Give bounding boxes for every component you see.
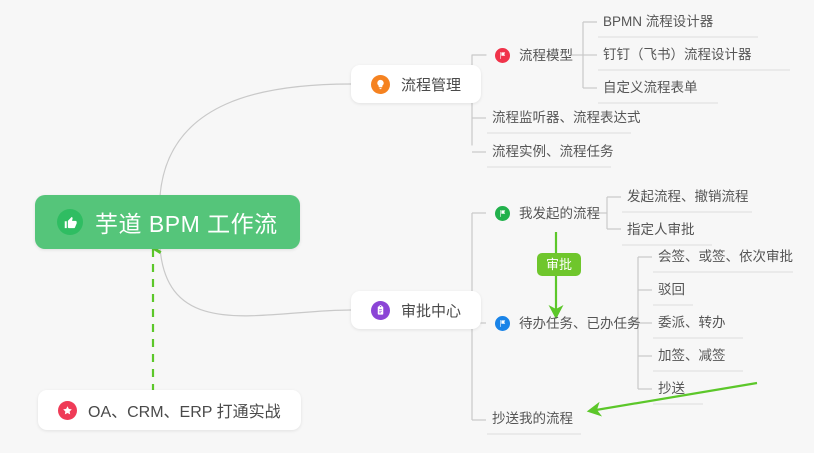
node-label-dingtalk-feishu-designer: 钉钉（飞书）流程设计器 xyxy=(603,46,752,63)
node-label-reject: 驳回 xyxy=(658,281,685,298)
branch-node-approval-center[interactable]: 审批中心 xyxy=(351,291,481,329)
node-delegate-transfer[interactable]: 委派、转办 xyxy=(652,310,732,334)
node-todo-done-tasks[interactable]: 待办任务、已办任务 xyxy=(489,310,647,336)
node-bpmn-designer[interactable]: BPMN 流程设计器 xyxy=(597,9,719,33)
node-label-add-remove-sign: 加签、减签 xyxy=(658,347,726,364)
node-instance-task[interactable]: 流程实例、流程任务 xyxy=(486,139,620,163)
flag-icon-blue xyxy=(495,316,510,331)
node-dingtalk-feishu-designer[interactable]: 钉钉（飞书）流程设计器 xyxy=(597,42,758,66)
node-label-process-model: 流程模型 xyxy=(519,47,573,64)
node-label-custom-process-form: 自定义流程表单 xyxy=(603,79,698,96)
node-add-remove-sign[interactable]: 加签、减签 xyxy=(652,343,732,367)
node-label-assignee-approval: 指定人审批 xyxy=(627,221,695,238)
node-assignee-approval[interactable]: 指定人审批 xyxy=(621,217,701,241)
flag-icon-green xyxy=(495,206,510,221)
node-cc[interactable]: 抄送 xyxy=(652,376,691,400)
node-label-instance-task: 流程实例、流程任务 xyxy=(492,143,614,160)
relation-label-approval[interactable]: 审批 xyxy=(537,253,581,276)
node-listener-expression[interactable]: 流程监听器、流程表达式 xyxy=(486,105,647,129)
node-label-listener-expression: 流程监听器、流程表达式 xyxy=(492,109,641,126)
node-label-cc: 抄送 xyxy=(658,380,685,397)
node-countersign[interactable]: 会签、或签、依次审批 xyxy=(652,244,799,268)
branch-label-process-management: 流程管理 xyxy=(401,74,461,95)
bottom-card-integration-practice[interactable]: OA、CRM、ERP 打通实战 xyxy=(38,390,301,430)
branch-node-process-management[interactable]: 流程管理 xyxy=(351,65,481,103)
node-label-cc-to-me: 抄送我的流程 xyxy=(492,410,573,427)
relation-label-text: 审批 xyxy=(546,257,572,272)
flag-icon-red xyxy=(495,48,510,63)
root-node[interactable]: 芋道 BPM 工作流 xyxy=(35,195,300,249)
node-label-bpmn-designer: BPMN 流程设计器 xyxy=(603,13,713,30)
wire-pmodel-to-bpmn xyxy=(583,22,597,88)
bottom-card-label: OA、CRM、ERP 打通实战 xyxy=(88,398,281,422)
node-start-cancel[interactable]: 发起流程、撤销流程 xyxy=(621,184,755,208)
node-my-initiated[interactable]: 我发起的流程 xyxy=(489,200,606,226)
star-icon xyxy=(58,401,77,420)
wire-root-to-process-management xyxy=(160,84,351,196)
mindmap-canvas: 芋道 BPM 工作流 流程管理 流程模型 BPMN 流程设计器 钉钉（飞书）流程… xyxy=(0,0,814,453)
node-label-my-initiated: 我发起的流程 xyxy=(519,205,600,222)
node-custom-process-form[interactable]: 自定义流程表单 xyxy=(597,75,704,99)
lightbulb-icon xyxy=(371,75,390,94)
node-cc-to-me[interactable]: 抄送我的流程 xyxy=(486,406,579,430)
node-label-delegate-transfer: 委派、转办 xyxy=(658,314,726,331)
node-reject[interactable]: 驳回 xyxy=(652,277,691,301)
node-label-start-cancel: 发起流程、撤销流程 xyxy=(627,188,749,205)
node-label-todo-done-tasks: 待办任务、已办任务 xyxy=(519,315,641,332)
node-label-countersign: 会签、或签、依次审批 xyxy=(658,248,793,265)
clipboard-icon xyxy=(371,301,390,320)
wire-root-to-approval-center xyxy=(160,248,351,316)
node-process-model[interactable]: 流程模型 xyxy=(489,42,579,68)
root-label: 芋道 BPM 工作流 xyxy=(95,205,278,239)
branch-label-approval-center: 审批中心 xyxy=(401,300,461,321)
thumbs-up-icon xyxy=(57,209,83,235)
